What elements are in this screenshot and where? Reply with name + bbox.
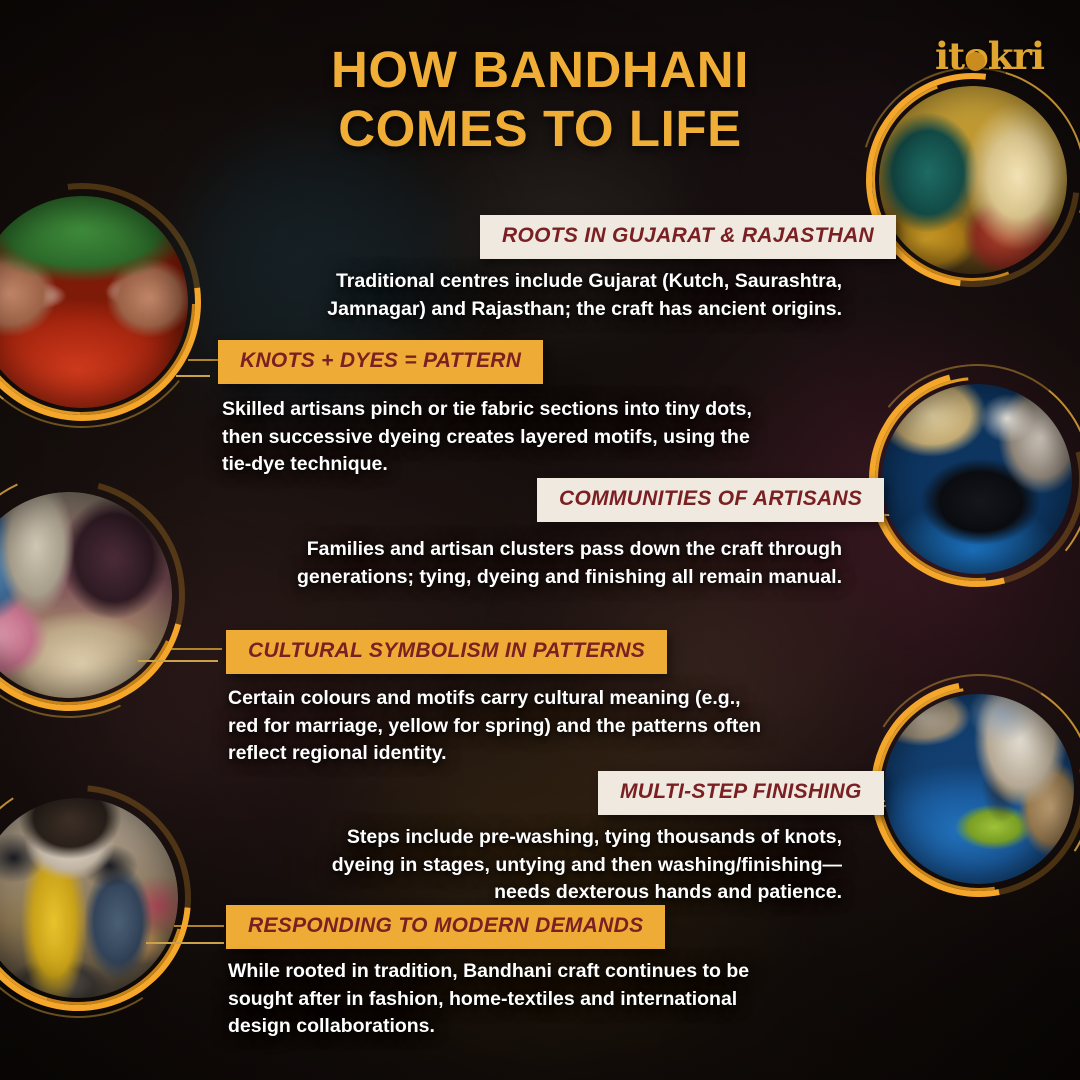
section-4-label-band[interactable]: CULTURAL SYMBOLISM IN PATTERNS: [226, 630, 667, 674]
section-6-label-band[interactable]: RESPONDING TO MODERN DEMANDS: [226, 905, 665, 949]
section-4-label-text: CULTURAL SYMBOLISM IN PATTERNS: [248, 639, 645, 663]
section-2-label-text: KNOTS + DYES = PATTERN: [240, 349, 521, 373]
photo-dyer-blue-vat: [882, 384, 1072, 574]
section-2-label-band[interactable]: KNOTS + DYES = PATTERN: [218, 340, 543, 384]
page-title: HOW BANDHANI COMES TO LIFE: [0, 40, 1080, 158]
section-1-label-band[interactable]: ROOTS IN GUJARAT & RAJASTHAN: [480, 215, 896, 259]
section-1-body: Traditional centres include Gujarat (Kut…: [250, 268, 842, 323]
photo-cloth-in-blue-dye: [884, 694, 1074, 884]
connector-section-6: [174, 925, 224, 927]
connector-section-4: [170, 648, 222, 650]
itokri-logo[interactable]: itokri: [935, 38, 1044, 75]
logo-dot-icon: [966, 52, 985, 71]
section-1-label-text: ROOTS IN GUJARAT & RAJASTHAN: [502, 224, 874, 248]
section-3-label-band[interactable]: COMMUNITIES OF ARTISANS: [537, 478, 884, 522]
photo-5-shading: [884, 694, 1074, 884]
section-5-body: Steps include pre-washing, tying thousan…: [318, 824, 842, 907]
section-2-body: Skilled artisans pinch or tie fabric sec…: [222, 396, 752, 479]
section-4-body: Certain colours and motifs carry cultura…: [228, 685, 768, 768]
infographic-canvas: itokri HOW BANDHANI COMES TO LIFE: [0, 0, 1080, 1080]
section-3-label-text: COMMUNITIES OF ARTISANS: [559, 487, 862, 511]
photo-4-shading: [882, 384, 1072, 574]
section-5-label-band[interactable]: MULTI-STEP FINISHING: [598, 771, 884, 815]
logo-text: itokri: [935, 34, 1044, 78]
page-title-line-2: COMES TO LIFE: [0, 99, 1080, 158]
photo-6-tick: [146, 942, 224, 944]
section-3-body: Families and artisan clusters pass down …: [246, 536, 842, 591]
photo-2-tick: [176, 375, 210, 377]
connector-section-2: [188, 359, 218, 361]
page-title-line-1: HOW BANDHANI: [0, 40, 1080, 99]
photo-3-tick: [138, 660, 218, 662]
section-6-body: While rooted in tradition, Bandhani craf…: [228, 958, 780, 1041]
section-5-label-text: MULTI-STEP FINISHING: [620, 780, 862, 804]
section-6-label-text: RESPONDING TO MODERN DEMANDS: [248, 914, 643, 938]
